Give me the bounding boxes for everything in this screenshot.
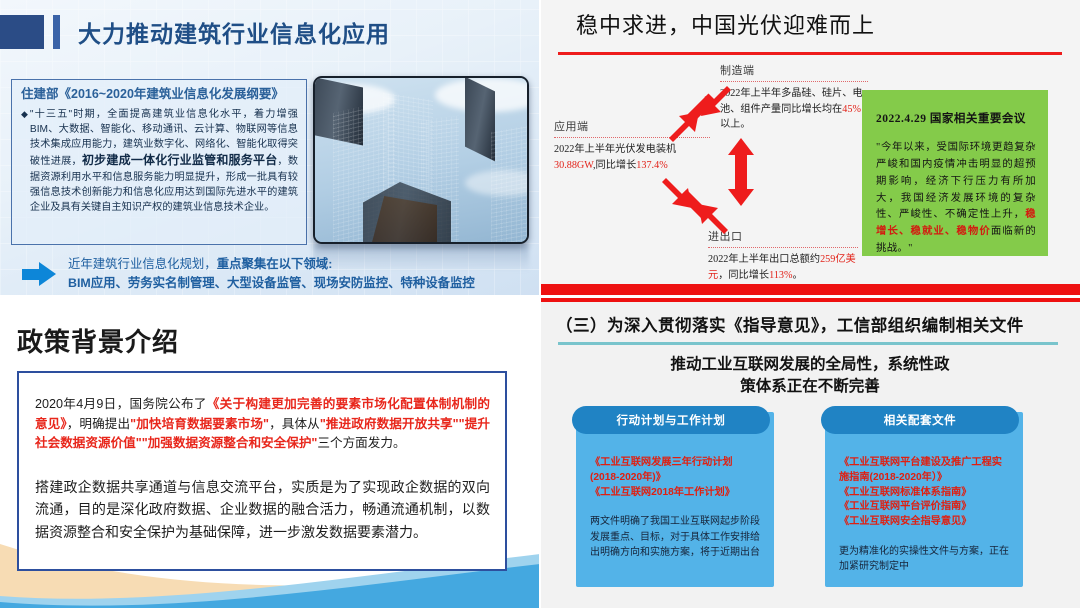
panel-policy-background: 政策背景介绍 2020年4月9日，国务院公布了《关于构建更加完善的要素市场化配置… bbox=[0, 296, 540, 608]
segment-import-export-text: 2022年上半年出口总额约259亿美元，同比增长113%。 bbox=[708, 252, 858, 283]
policy-outline-list: ◆ "十三五"时期，全面提高建筑业信息化水平，着力增强BIM、大数据、智能化、移… bbox=[21, 107, 298, 215]
card-action-plan-body: 《工业互联网发展三年行动计划(2018-2020年)》 《工业互联网2018年工… bbox=[576, 446, 774, 561]
panel1-focus-callout: 近年建筑行业信息化规划，重点聚集在以下领域: BIM应用、劳务实名制管理、大型设… bbox=[22, 255, 537, 292]
panel4-teal-rule bbox=[558, 342, 1058, 345]
focus-line-1-a: 近年建筑行业信息化规划， bbox=[68, 257, 217, 271]
seg-tail: 。 bbox=[793, 270, 803, 281]
arrow-right-icon bbox=[22, 262, 56, 286]
meeting-quote-title: 2022.4.29 国家相关重要会议 bbox=[876, 110, 1036, 126]
panel1-focus-text: 近年建筑行业信息化规划，重点聚集在以下领域: BIM应用、劳务实名制管理、大型设… bbox=[68, 255, 475, 292]
card-action-plan-header: 行动计划与工作计划 bbox=[572, 406, 770, 434]
para1-c: ，具体从 bbox=[269, 417, 320, 431]
seg-highlight-2: 113% bbox=[769, 270, 792, 281]
seg-lead: 2022年上半年出口总额约 bbox=[708, 254, 820, 265]
double-arrow-northeast-icon bbox=[665, 86, 735, 142]
card-action-plan-note: 两文件明确了我国工业互联网起步阶段发展重点、目标，对于具体工作安排给出明确方向和… bbox=[590, 514, 762, 561]
bullet-bold: 初步建成一体化行业监管和服务平台 bbox=[82, 153, 277, 167]
policy-outline-title: 住建部《2016~2020年建筑业信息化发展纲要》 bbox=[21, 86, 298, 103]
dotted-divider bbox=[708, 247, 858, 248]
policy-outline-box: 住建部《2016~2020年建筑业信息化发展纲要》 ◆ "十三五"时期，全面提高… bbox=[11, 79, 307, 245]
card-supporting-docs-body: 《工业互联网平台建设及推广工程实施指南(2018-2020年）》 《工业互联网标… bbox=[825, 446, 1023, 575]
list-item-text: "十三五"时期，全面提高建筑业信息化水平，着力增强BIM、大数据、智能化、移动通… bbox=[30, 107, 298, 215]
seg-mid: ,同比增长 bbox=[593, 160, 636, 171]
card-supporting-docs-note: 更为精准化的实操性文件与方案，正在加紧研究制定中 bbox=[839, 544, 1011, 575]
diamond-bullet-icon: ◆ bbox=[21, 107, 28, 215]
header-bar-decoration bbox=[53, 15, 60, 49]
policy-paragraph-1: 2020年4月9日，国务院公布了《关于构建更加完善的要素市场化配置体制机制的意见… bbox=[35, 395, 490, 454]
quote-lead: "今年以来，受国际环境更趋复杂严峻和国内疫情冲击明显的超预期影响，经济下行压力有… bbox=[876, 142, 1036, 220]
horizontal-gutter bbox=[0, 295, 1080, 298]
panel3-title: 政策背景介绍 bbox=[17, 322, 179, 359]
seg-highlight-1: 30.88GW bbox=[554, 160, 593, 171]
panel-pv-industry: 稳中求进，中国光伏迎难而上 应用端 2022年上半年光伏发电装机30.88GW,… bbox=[540, 0, 1080, 296]
segment-application-text: 2022年上半年光伏发电装机30.88GW,同比增长137.4% bbox=[554, 142, 710, 173]
panel1-header: 大力推动建筑行业信息化应用 bbox=[0, 14, 390, 50]
seg-highlight-1: 45% bbox=[842, 104, 861, 115]
para1-d: 三个方面发力。 bbox=[317, 436, 405, 450]
segment-manufacturing: 制造端 2022年上半年多晶硅、硅片、电池、组件产量同比增长均在45%以上。 bbox=[720, 62, 868, 133]
card-supporting-docs: 相关配套文件 《工业互联网平台建设及推广工程实施指南(2018-2020年）》 … bbox=[825, 412, 1023, 587]
card-action-plan: 行动计划与工作计划 《工业互联网发展三年行动计划(2018-2020年)》 《工… bbox=[576, 412, 774, 587]
segment-manufacturing-label: 制造端 bbox=[720, 62, 868, 78]
panel1-title: 大力推动建筑行业信息化应用 bbox=[78, 15, 390, 49]
header-block-decoration bbox=[0, 15, 44, 49]
panel-industrial-internet-docs: （三）为深入贯彻落实《指导意见》，工信部组织编制相关文件 推动工业互联网发展的全… bbox=[540, 296, 1080, 608]
list-item: ◆ "十三五"时期，全面提高建筑业信息化水平，着力增强BIM、大数据、智能化、移… bbox=[21, 107, 298, 215]
panel4-subtitle: 推动工业互联网发展的全局性，系统性政 策体系正在不断完善 bbox=[540, 354, 1080, 398]
panel4-subtitle-line-1: 推动工业互联网发展的全局性，系统性政 bbox=[540, 354, 1080, 376]
panel4-subtitle-line-2: 策体系正在不断完善 bbox=[540, 376, 1080, 398]
vertical-gutter bbox=[539, 0, 541, 608]
para1-b: ，明确提出 bbox=[67, 417, 130, 431]
panel2-red-rule bbox=[558, 52, 1062, 55]
seg-mid: ，同比增长 bbox=[718, 270, 769, 281]
seg-lead: 2022年上半年光伏发电装机 bbox=[554, 144, 676, 155]
focus-line-2: BIM应用、劳务实名制管理、大型设备监管、现场安防监控、特种设备监控 bbox=[68, 274, 475, 293]
meeting-quote-body: "今年以来，受国际环境更趋复杂严峻和国内疫情冲击明显的超预期影响，经济下行压力有… bbox=[876, 140, 1036, 258]
building-shape bbox=[491, 124, 529, 244]
card-supporting-docs-documents: 《工业互联网平台建设及推广工程实施指南(2018-2020年）》 《工业互联网标… bbox=[839, 456, 1011, 530]
segment-import-export: 进出口 2022年上半年出口总额约259亿美元，同比增长113%。 bbox=[708, 228, 858, 283]
panel-construction-informatization: 大力推动建筑行业信息化应用 住建部《2016~2020年建筑业信息化发展纲要》 … bbox=[0, 0, 540, 296]
focus-line-1-b: 重点聚集在以下领域: bbox=[217, 257, 333, 271]
card-action-plan-documents: 《工业互联网发展三年行动计划(2018-2020年)》 《工业互联网2018年工… bbox=[590, 456, 762, 500]
slide-collage: 大力推动建筑行业信息化应用 住建部《2016~2020年建筑业信息化发展纲要》 … bbox=[0, 0, 1080, 608]
focus-line-1: 近年建筑行业信息化规划，重点聚集在以下领域: bbox=[68, 255, 475, 274]
seg-highlight-2: 137.4% bbox=[636, 160, 667, 171]
segment-manufacturing-text: 2022年上半年多晶硅、硅片、电池、组件产量同比增长均在45%以上。 bbox=[720, 86, 868, 133]
double-arrow-southeast-icon bbox=[658, 176, 732, 234]
panel4-title: （三）为深入贯彻落实《指导意见》，工信部组织编制相关文件 bbox=[556, 312, 1024, 336]
meeting-quote-box: 2022.4.29 国家相关重要会议 "今年以来，受国际环境更趋复杂严峻和国内疫… bbox=[862, 90, 1048, 256]
policy-background-box: 2020年4月9日，国务院公布了《关于构建更加完善的要素市场化配置体制机制的意见… bbox=[17, 371, 507, 571]
panel2-title: 稳中求进，中国光伏迎难而上 bbox=[576, 8, 875, 40]
policy-paragraph-2: 搭建政企数据共享通道与信息交流平台，实质是为了实现政企数据的双向流通，目的是深化… bbox=[35, 476, 490, 544]
skyscraper-photo bbox=[313, 76, 529, 244]
para1-red-2: "加快培育数据要素市场" bbox=[130, 417, 269, 431]
card-supporting-docs-header: 相关配套文件 bbox=[821, 406, 1019, 434]
dotted-divider bbox=[720, 81, 868, 82]
para1-a: 2020年4月9日，国务院公布了 bbox=[35, 397, 207, 411]
